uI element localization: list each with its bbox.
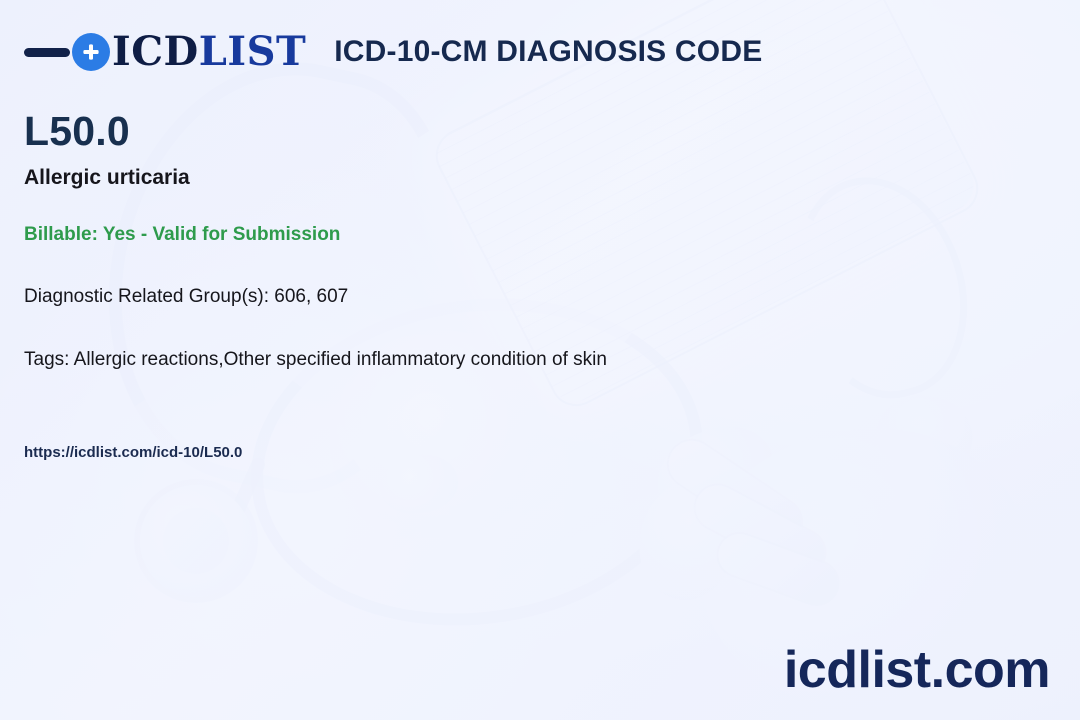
logo-text-icd: ICD [112, 32, 199, 72]
site-watermark: icdlist.com [784, 644, 1050, 696]
source-url[interactable]: https://icdlist.com/icd-10/L50.0 [24, 444, 242, 461]
icdlist-logo[interactable]: ICD LIST [24, 28, 306, 76]
icd-code-card: ICD LIST ICD-10-CM DIAGNOSIS CODE L50.0 … [0, 0, 1080, 720]
billable-status: Billable: Yes - Valid for Submission [24, 224, 340, 246]
dash-icon [24, 48, 70, 57]
diagnosis-code: L50.0 [24, 110, 130, 153]
tags-line: Tags: Allergic reactions,Other specified… [24, 349, 607, 371]
card-content: ICD LIST ICD-10-CM DIAGNOSIS CODE L50.0 … [0, 0, 1080, 720]
page-title: ICD-10-CM DIAGNOSIS CODE [334, 35, 762, 69]
diagnosis-description: Allergic urticaria [24, 166, 190, 190]
plus-circle-icon [72, 33, 110, 71]
diagnostic-related-groups: Diagnostic Related Group(s): 606, 607 [24, 286, 348, 308]
logo-text-list: LIST [199, 32, 307, 72]
header: ICD LIST ICD-10-CM DIAGNOSIS CODE [24, 28, 762, 76]
